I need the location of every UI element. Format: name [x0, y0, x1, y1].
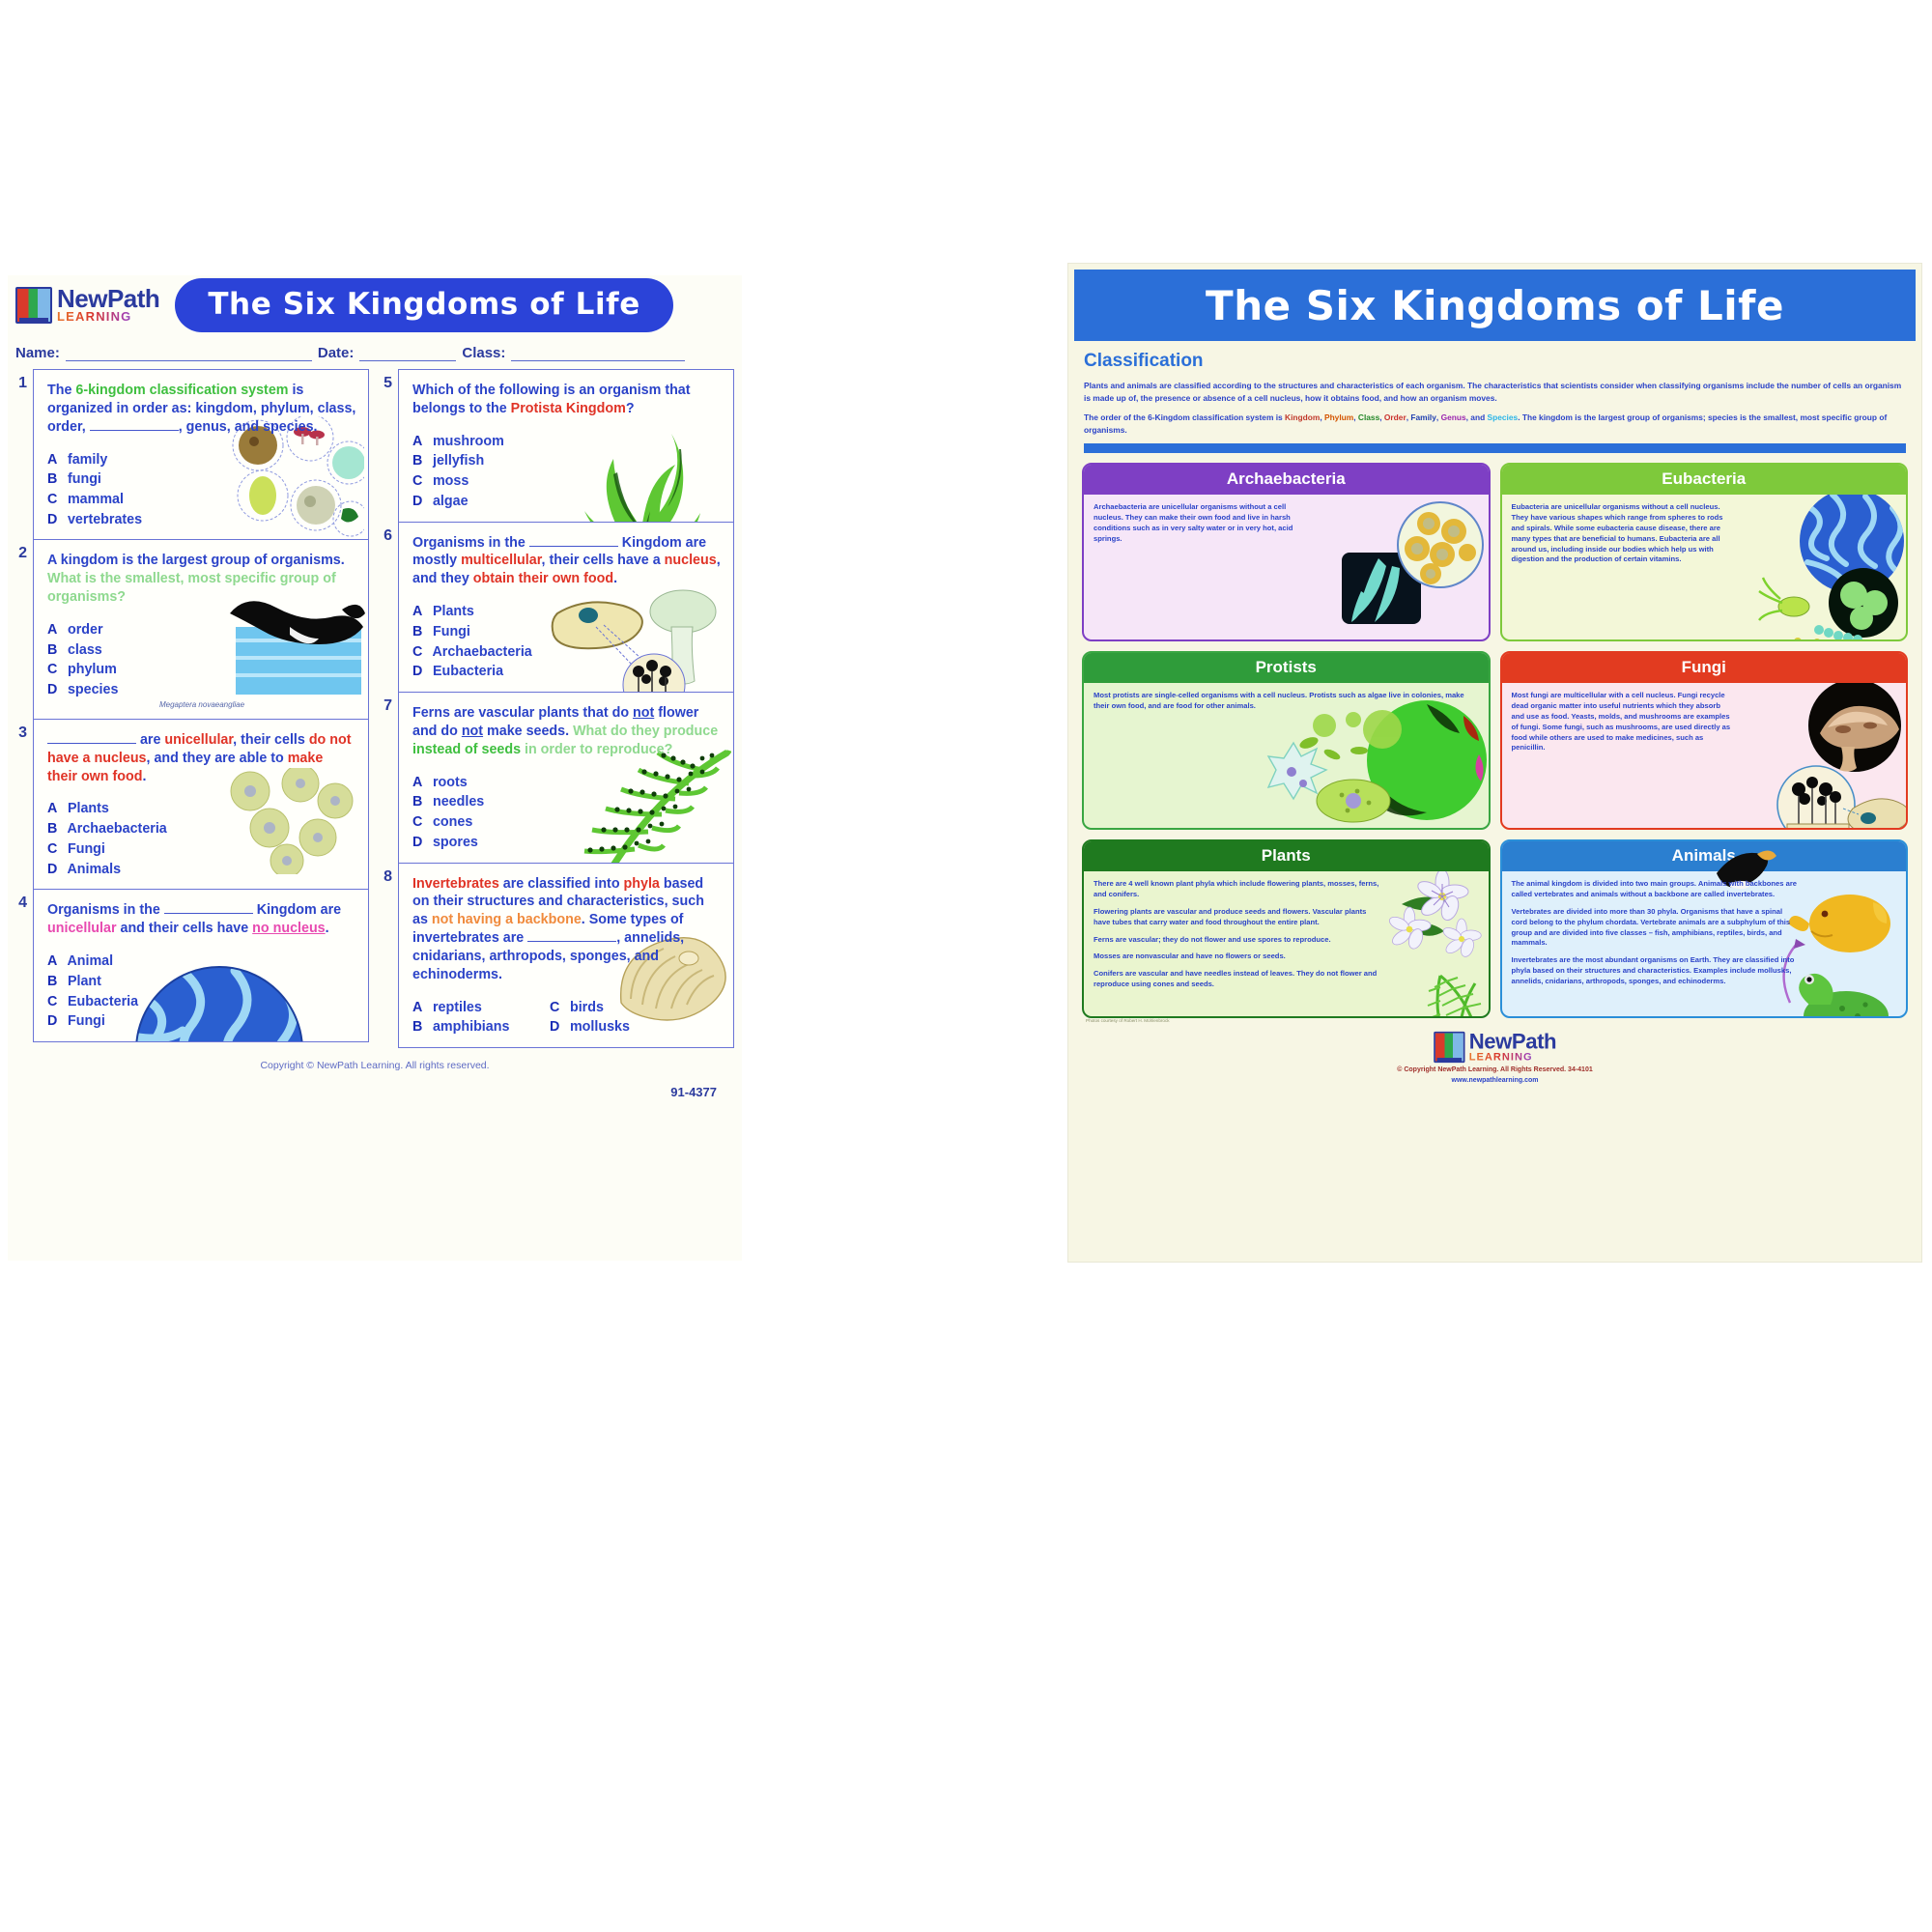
answer-option[interactable]: B Plant [47, 972, 356, 992]
kingdom-card-body: Most fungi are multicellular with a cell… [1502, 683, 1907, 828]
answer-options: A PlantsB ArchaebacteriaC FungiD Animals [47, 799, 356, 879]
taxonomy-term: Class [1358, 412, 1379, 422]
answer-option[interactable]: A family [47, 450, 356, 470]
question-item: 2 A kingdom is the largest group of orga… [14, 539, 369, 718]
question-box: are unicellular, their cells do not have… [33, 719, 369, 889]
worksheet-page: NewPath LEARNING The Six Kingdoms of Lif… [8, 275, 742, 1261]
question-number: 5 [379, 369, 392, 392]
answer-option[interactable]: C Archaebacteria [412, 642, 722, 663]
question-number: 7 [379, 692, 392, 715]
name-input[interactable] [66, 348, 312, 361]
taxonomy-term: Kingdom [1285, 412, 1320, 422]
image-caption: Megaptera novaeangliae [47, 700, 356, 709]
poster-copyright: © Copyright NewPath Learning. All Rights… [1397, 1065, 1593, 1086]
question-box: Organisms in the Kingdom are mostly mult… [398, 522, 734, 692]
card-body-text: Most fungi are multicellular with a cell… [1512, 691, 1736, 753]
question-box: The 6-kingdom classification system is o… [33, 369, 369, 539]
book-logo-icon [1434, 1032, 1464, 1063]
kingdom-card-archaebacteria[interactable]: Archaebacteria Archaebacteria are unicel… [1082, 463, 1491, 641]
kingdom-card-fungi[interactable]: Fungi Most fungi are multicellular with … [1500, 651, 1909, 830]
answer-blank[interactable] [527, 929, 616, 942]
answer-options: A rootsB needlesC conesD spores [412, 773, 722, 853]
date-field-label: Date: [318, 345, 355, 361]
classification-order: The order of the 6-Kingdom classificatio… [1084, 412, 1906, 436]
kingdom-card-title: Archaebacteria [1084, 465, 1489, 495]
kingdom-card-body: The animal kingdom is divided into two m… [1502, 871, 1907, 1016]
question-columns: 1 The 6-kingdom classification system is… [8, 369, 742, 1048]
kingdom-card-plants[interactable]: Plants [1082, 839, 1491, 1018]
answer-option[interactable]: A Animal [47, 952, 356, 972]
question-number: 4 [14, 889, 27, 912]
card-body-text: Most protists are single-celled organism… [1094, 691, 1480, 712]
kingdom-card-title: Animals [1502, 841, 1907, 871]
kingdom-card-title: Fungi [1502, 653, 1907, 683]
answer-option[interactable]: B class [47, 640, 356, 661]
website-url[interactable]: www.newpathlearning.com [1452, 1077, 1539, 1084]
answer-option[interactable]: C Eubacteria [47, 992, 356, 1012]
name-field-label: Name: [15, 345, 60, 361]
answer-blank[interactable] [47, 731, 136, 744]
class-input[interactable] [511, 348, 685, 361]
card-paragraph: Flowering plants are vascular and produc… [1094, 907, 1379, 928]
question-column-left: 1 The 6-kingdom classification system is… [14, 369, 369, 1048]
question-box: Ferns are vascular plants that do not fl… [398, 692, 734, 862]
answer-option[interactable]: B Archaebacteria [47, 819, 356, 839]
question-box: Organisms in the Kingdom are unicellular… [33, 889, 369, 1042]
question-number: 2 [14, 539, 27, 562]
question-box: A kingdom is the largest group of organi… [33, 539, 369, 718]
worksheet-title: The Six Kingdoms of Life [175, 278, 673, 332]
card-body-text: The animal kingdom is divided into two m… [1512, 879, 1798, 986]
question-box: Invertebrates are classified into phyla … [398, 863, 734, 1049]
kingdom-card-body: Eubacteria are unicellular organisms wit… [1502, 495, 1907, 639]
answer-option[interactable]: D vertebrates [47, 510, 356, 530]
question-number: 6 [379, 522, 392, 545]
poster-page: The Six Kingdoms of Life Classification … [1067, 263, 1922, 1263]
eubacteria-photo-art [1751, 495, 1906, 641]
answer-option[interactable]: C Fungi [47, 839, 356, 860]
taxonomy-term: Family [1410, 412, 1436, 422]
kingdom-card-title: Plants [1084, 841, 1489, 871]
brand-name-line2: LEARNING [1469, 1053, 1556, 1063]
answer-option[interactable]: A Plants [47, 799, 356, 819]
answer-option[interactable]: A mushroom [412, 432, 722, 452]
answer-option[interactable]: A roots [412, 773, 722, 793]
answer-options: A orderB classC phylumD species [47, 620, 356, 700]
newpath-wordmark: NewPath LEARNING [57, 288, 159, 323]
taxonomy-term: Phylum [1324, 412, 1353, 422]
answer-blank[interactable] [164, 901, 253, 914]
answer-options: A AnimalB PlantC EubacteriaD Fungi [47, 952, 356, 1032]
poster-footer: NewPath LEARNING © Copyright NewPath Lea… [1068, 1023, 1921, 1086]
answer-options: A mushroomB jellyfishC mossD algae [412, 432, 722, 512]
kingdom-card-title: Protists [1084, 653, 1489, 683]
answer-blank[interactable] [529, 534, 618, 547]
question-number: 1 [14, 369, 27, 392]
card-paragraph: Ferns are vascular; they do not flower a… [1094, 935, 1379, 946]
card-body-text: Archaebacteria are unicellular organisms… [1094, 502, 1318, 544]
card-body-text: There are 4 well known plant phyla which… [1094, 879, 1379, 989]
answer-options: A PlantsB FungiC ArchaebacteriaD Eubacte… [412, 602, 722, 682]
answer-option[interactable]: D species [47, 680, 356, 700]
question-item: 1 The 6-kingdom classification system is… [14, 369, 369, 539]
question-text: Ferns are vascular plants that do not fl… [412, 704, 722, 759]
card-paragraph: The animal kingdom is divided into two m… [1512, 879, 1798, 900]
poster-divider [1084, 443, 1906, 453]
poster-title: The Six Kingdoms of Life [1074, 270, 1916, 341]
kingdom-card-animals[interactable]: Animals [1500, 839, 1909, 1018]
answer-option[interactable]: D algae [412, 492, 722, 512]
answer-option[interactable]: A order [47, 620, 356, 640]
answer-option[interactable]: C phylum [47, 660, 356, 680]
kingdom-card-grid: Archaebacteria Archaebacteria are unicel… [1068, 463, 1921, 1018]
question-item: 6 Organisms in the Kingdom are mostly mu… [379, 522, 734, 692]
answer-option[interactable]: B jellyfish [412, 451, 722, 471]
answer-option[interactable]: B needles [412, 792, 722, 812]
question-text: The 6-kingdom classification system is o… [47, 382, 356, 437]
kingdom-card-protists[interactable]: Protists Most protists are single-celled… [1082, 651, 1491, 830]
answer-options: A reptilesC birdsB amphibiansD mollusks [412, 998, 722, 1037]
kingdom-card-body: There are 4 well known plant phyla which… [1084, 871, 1489, 1016]
answer-option[interactable]: C moss [412, 471, 722, 492]
answer-option[interactable]: D Fungi [47, 1011, 356, 1032]
answer-option[interactable]: D Animals [47, 860, 356, 880]
worksheet-fields: Name: Date: Class: [8, 335, 742, 369]
worksheet-header: NewPath LEARNING The Six Kingdoms of Lif… [8, 275, 742, 335]
worksheet-copyright: Copyright © NewPath Learning. All rights… [8, 1048, 742, 1071]
question-box: Which of the following is an organism th… [398, 369, 734, 522]
question-text: Invertebrates are classified into phyla … [412, 875, 722, 984]
question-item: 3 are unicellular, their cells do not ha… [14, 719, 369, 889]
question-number: 3 [14, 719, 27, 742]
archaebacteria-photo-art [1340, 498, 1485, 626]
answer-option[interactable]: B amphibians [412, 1017, 550, 1037]
taxonomy-term: Species [1488, 412, 1519, 422]
question-item: 4 Organisms in the Kingdom are unicellul… [14, 889, 369, 1042]
card-paragraph: Invertebrates are the most abundant orga… [1512, 955, 1798, 986]
question-item: 7 Ferns are [379, 692, 734, 862]
kingdom-card-title: Eubacteria [1502, 465, 1907, 495]
question-text: Which of the following is an organism th… [412, 382, 722, 418]
taxonomy-term: Genus [1441, 412, 1466, 422]
card-paragraph: Vertebrates are divided into more than 3… [1512, 907, 1798, 949]
question-column-right: 5 Which of the following is an organism … [379, 369, 734, 1048]
card-paragraph: There are 4 well known plant phyla which… [1094, 879, 1379, 900]
answer-option[interactable]: D spores [412, 833, 722, 853]
poster-intro: Classification Plants and animals are cl… [1068, 341, 1921, 453]
newpath-wordmark-footer: NewPath LEARNING [1469, 1033, 1556, 1062]
classification-heading: Classification [1084, 351, 1906, 372]
answer-option[interactable]: C birds [550, 998, 722, 1018]
answer-option[interactable]: A reptiles [412, 998, 550, 1018]
class-field-label: Class: [462, 345, 505, 361]
answer-option[interactable]: D mollusks [550, 1017, 722, 1037]
answer-option[interactable]: B Fungi [412, 622, 722, 642]
kingdom-card-eubacteria[interactable]: Eubacteria Eubacteria are unicellular or… [1500, 463, 1909, 641]
date-input[interactable] [359, 348, 456, 361]
question-text: A kingdom is the largest group of organi… [47, 552, 356, 607]
taxonomy-term: Order [1384, 412, 1406, 422]
answer-option[interactable]: C cones [412, 812, 722, 833]
answer-option[interactable]: C mammal [47, 490, 356, 510]
answer-option[interactable]: A Plants [412, 602, 722, 622]
kingdom-card-body: Most protists are single-celled organism… [1084, 683, 1489, 828]
card-paragraph: Mosses are nonvascular and have no flowe… [1094, 952, 1379, 962]
newpath-logo-footer: NewPath LEARNING [1434, 1032, 1556, 1063]
worksheet-product-code: 91-4377 [8, 1071, 742, 1099]
answer-options: A familyB fungiC mammalD vertebrates [47, 450, 356, 530]
answer-option[interactable]: D Eubacteria [412, 662, 722, 682]
question-text: are unicellular, their cells do not have… [47, 731, 356, 786]
question-number: 8 [379, 863, 392, 886]
brand-name-line1: NewPath [57, 288, 159, 311]
question-text: Organisms in the Kingdom are mostly mult… [412, 534, 722, 589]
classification-intro: Plants and animals are classified accord… [1084, 380, 1906, 404]
question-text: Organisms in the Kingdom are unicellular… [47, 901, 356, 938]
answer-blank[interactable] [90, 418, 179, 431]
copyright-line1: © Copyright NewPath Learning. All Rights… [1397, 1066, 1593, 1073]
card-paragraph: Conifers are vascular and have needles i… [1094, 969, 1379, 990]
book-logo-icon [15, 287, 52, 324]
card-body-text: Eubacteria are unicellular organisms wit… [1512, 502, 1736, 565]
fungi-photo-art [1727, 683, 1906, 830]
answer-option[interactable]: B fungi [47, 469, 356, 490]
newpath-logo: NewPath LEARNING [15, 287, 159, 324]
question-item: 8 Invertebrates are classified into phyl… [379, 863, 734, 1049]
kingdom-card-body: Archaebacteria are unicellular organisms… [1084, 495, 1489, 639]
question-item: 5 Which of the following is an organism … [379, 369, 734, 522]
